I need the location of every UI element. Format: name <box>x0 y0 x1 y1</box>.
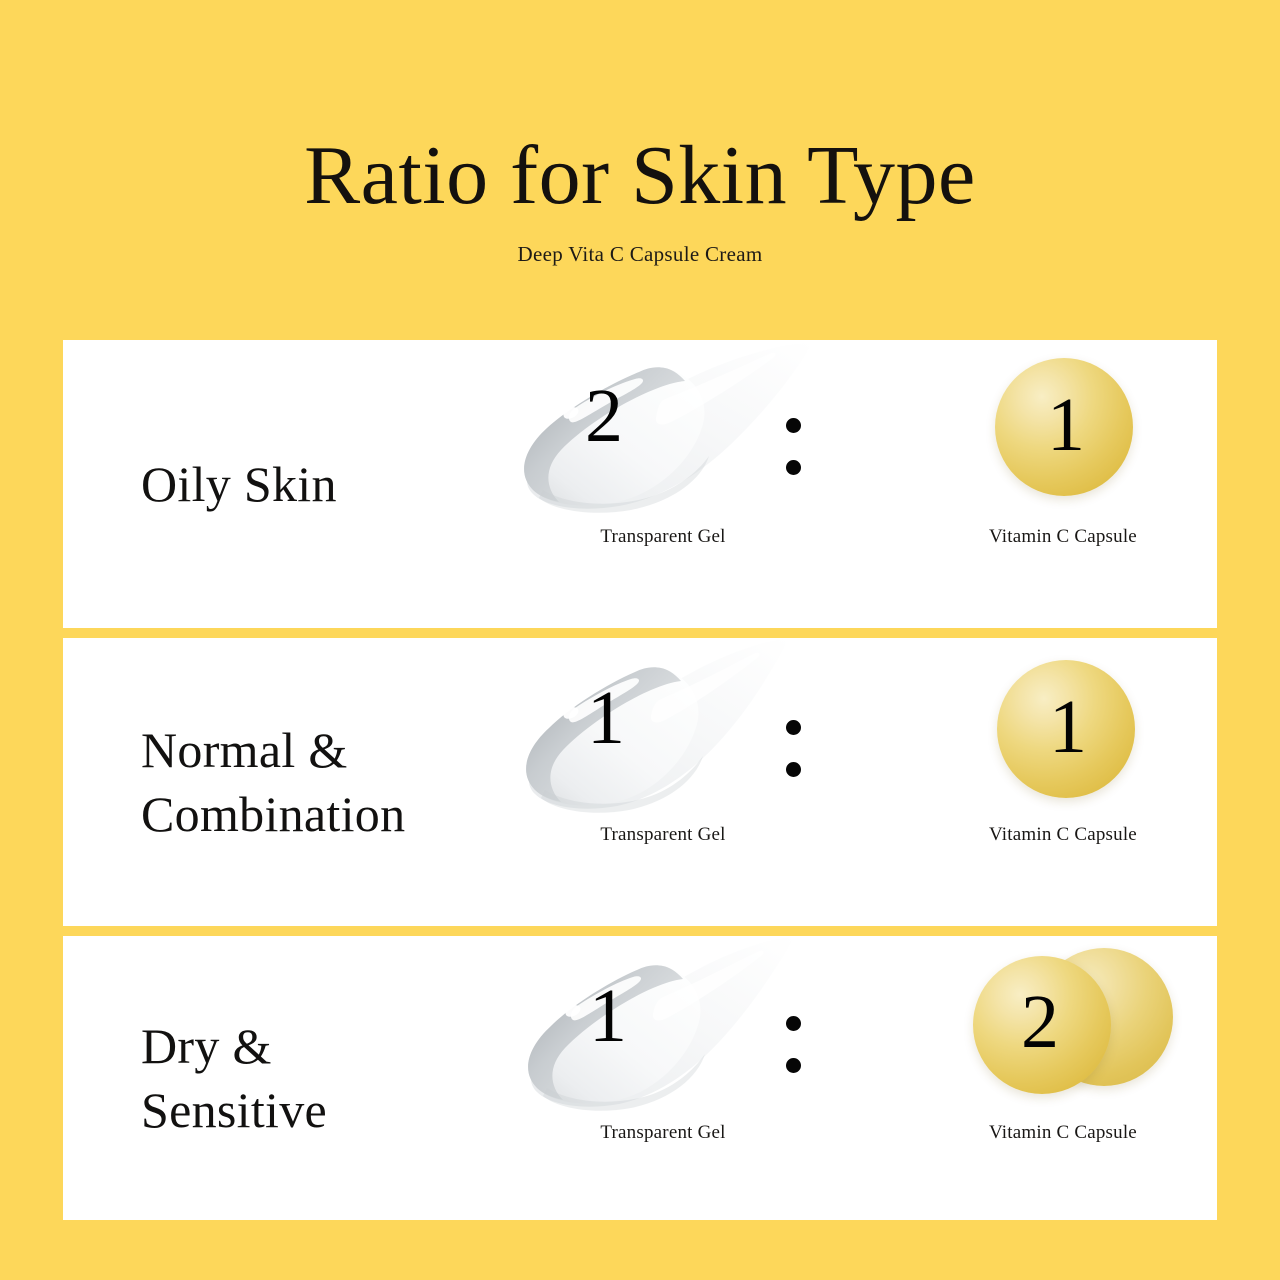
page-title: Ratio for Skin Type <box>0 0 1280 220</box>
page-subtitle: Deep Vita C Capsule Cream <box>0 220 1280 267</box>
transparent-gel-icon <box>513 638 813 818</box>
ingredient-transparent-gel: 1 Transparent Gel <box>513 936 813 1144</box>
ratio-row: Oily Skin <box>63 340 1217 628</box>
skin-type-label: Oily Skin <box>63 452 493 516</box>
ingredient-vitamin-c-capsule: 2 Vitamin C Capsule <box>913 936 1213 1144</box>
gel-visual-wrap: 1 <box>513 638 813 818</box>
capsule-caption: Vitamin C Capsule <box>989 1122 1137 1144</box>
ingredient-vitamin-c-capsule: 1 Vitamin C Capsule <box>913 340 1213 548</box>
ratio-area: 1 Transparent Gel 1 Vitamin C Capsule <box>493 638 1217 926</box>
gel-amount: 2 <box>585 378 623 454</box>
gel-amount: 1 <box>589 978 627 1054</box>
gel-caption: Transparent Gel <box>600 526 725 548</box>
ratio-row-list: Oily Skin <box>63 340 1217 1220</box>
capsule-visual-wrap: 1 <box>913 638 1213 818</box>
ratio-row: Dry & Sensitive <box>63 936 1217 1220</box>
gel-amount: 1 <box>587 680 625 756</box>
gel-visual-wrap: 2 <box>513 340 813 520</box>
ratio-row: Normal & Combination <box>63 638 1217 926</box>
gel-visual-wrap: 1 <box>513 936 813 1116</box>
capsule-caption: Vitamin C Capsule <box>989 824 1137 846</box>
capsule-visual-wrap: 2 <box>913 936 1213 1116</box>
capsule-amount: 1 <box>1049 689 1087 765</box>
colon-dot-top <box>786 418 801 433</box>
ingredient-transparent-gel: 1 Transparent Gel <box>513 638 813 846</box>
skin-type-label: Normal & Combination <box>63 718 493 846</box>
transparent-gel-icon <box>513 340 813 520</box>
colon-dot-bottom <box>786 762 801 777</box>
skin-type-label: Dry & Sensitive <box>63 1014 493 1142</box>
header: Ratio for Skin Type Deep Vita C Capsule … <box>0 0 1280 340</box>
capsule-visual-wrap: 1 <box>913 340 1213 520</box>
ratio-colon-separator <box>785 720 801 777</box>
capsule-amount: 2 <box>1021 984 1059 1060</box>
gel-caption: Transparent Gel <box>600 1122 725 1144</box>
ratio-area: 1 Transparent Gel 2 Vitamin C Capsule <box>493 936 1217 1220</box>
colon-dot-top <box>786 720 801 735</box>
ratio-colon-separator <box>785 418 801 475</box>
ingredient-transparent-gel: 2 Transparent Gel <box>513 340 813 548</box>
capsule-amount: 1 <box>1047 387 1085 463</box>
ingredient-vitamin-c-capsule: 1 Vitamin C Capsule <box>913 638 1213 846</box>
ratio-area: 2 Transparent Gel 1 Vitamin C Capsule <box>493 340 1217 628</box>
ratio-colon-separator <box>785 1016 801 1073</box>
colon-dot-top <box>786 1016 801 1031</box>
colon-dot-bottom <box>786 460 801 475</box>
gel-caption: Transparent Gel <box>600 824 725 846</box>
capsule-caption: Vitamin C Capsule <box>989 526 1137 548</box>
colon-dot-bottom <box>786 1058 801 1073</box>
transparent-gel-icon <box>513 936 813 1116</box>
